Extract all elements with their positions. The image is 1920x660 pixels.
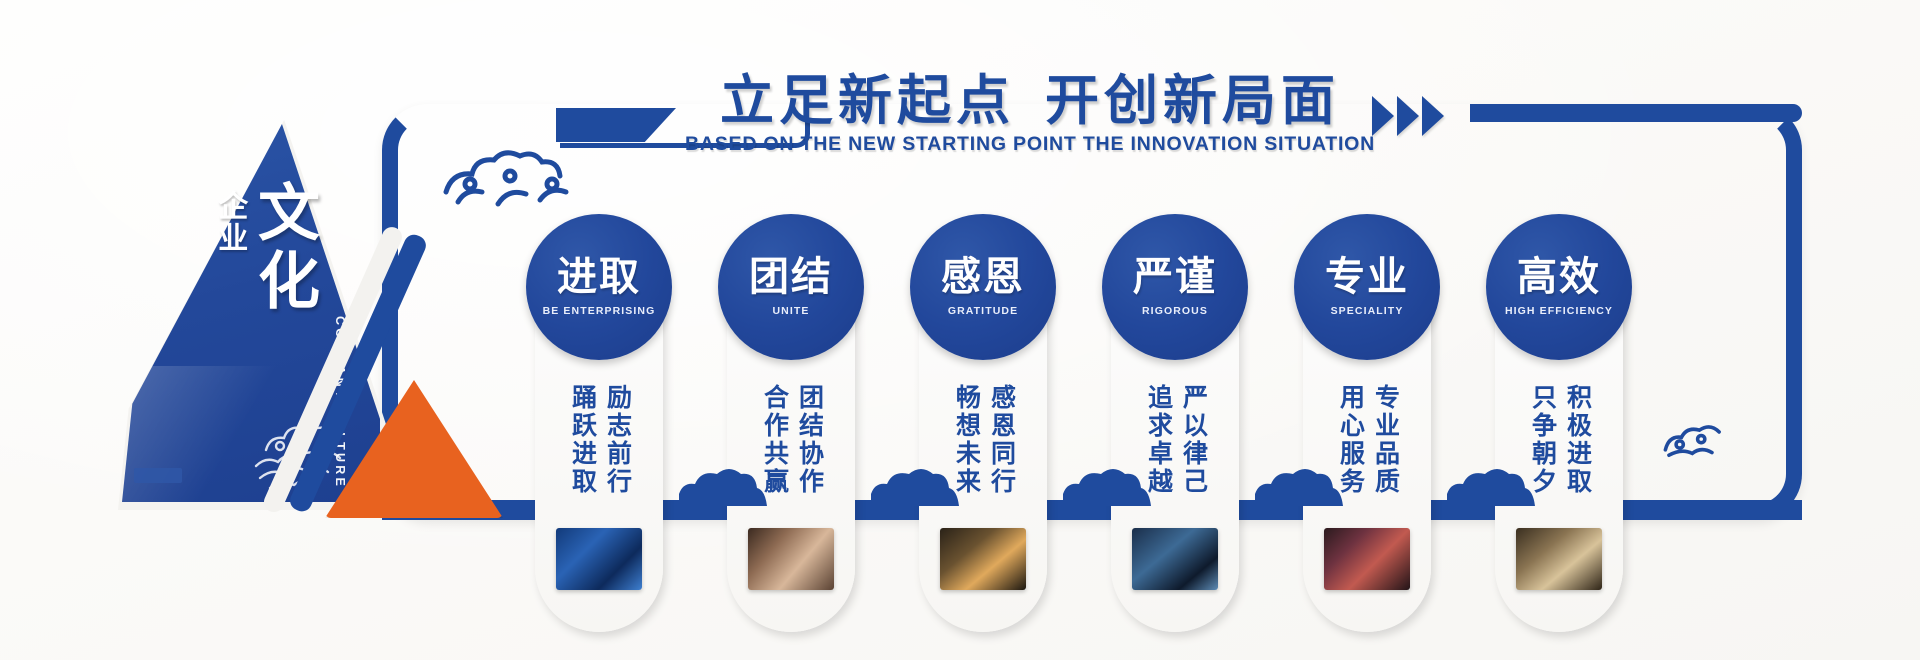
- pill-motto-left: 踊跃进取: [568, 384, 596, 496]
- cloud-motif-icon: [1660, 420, 1746, 460]
- pill-motto-right: 感恩同行: [987, 384, 1015, 496]
- cloud-motif-icon: [1251, 468, 1347, 506]
- value-pill-2[interactable]: 团结 UNITE 团结协作 合作共赢: [727, 232, 855, 632]
- pill-motto-1: 励志前行 踊跃进取: [568, 384, 631, 496]
- photo-handshake: [748, 528, 834, 590]
- value-pill-1[interactable]: 进取 BE ENTERPRISING 励志前行 踊跃进取: [535, 232, 663, 632]
- cloud-motif-icon: [867, 468, 963, 506]
- pill-circle-badge-3[interactable]: 感恩 GRATITUDE: [910, 214, 1056, 360]
- pill-circle-badge-2[interactable]: 团结 UNITE: [718, 214, 864, 360]
- pill-circle-badge-6[interactable]: 高效 HIGH EFFICIENCY: [1486, 214, 1632, 360]
- value-pill-4[interactable]: 严谨 RIGOROUS 严以律己 追求卓越: [1111, 232, 1239, 632]
- pill-title-cn: 团结: [749, 257, 833, 297]
- pill-motto-right: 励志前行: [603, 384, 631, 496]
- pill-title-cn: 严谨: [1133, 257, 1217, 297]
- pill-motto-right: 团结协作: [795, 384, 823, 496]
- pill-title-cn: 感恩: [941, 257, 1025, 297]
- pill-circle-badge-5[interactable]: 专业 SPECIALITY: [1294, 214, 1440, 360]
- value-pill-6[interactable]: 高效 HIGH EFFICIENCY 积极进取 只争朝夕: [1495, 232, 1623, 632]
- pill-title-cn: 专业: [1325, 257, 1409, 297]
- pill-title-en: RIGOROUS: [1142, 305, 1208, 317]
- cloud-motif-icon: [675, 468, 771, 506]
- pill-motto-right: 专业品质: [1371, 384, 1399, 496]
- pill-motto-right: 严以律己: [1179, 384, 1207, 496]
- pill-motto-right: 积极进取: [1563, 384, 1591, 496]
- photo-sunset-figures: [940, 528, 1026, 590]
- pill-circle-badge-1[interactable]: 进取 BE ENTERPRISING: [526, 214, 672, 360]
- value-pill-group: 进取 BE ENTERPRISING 励志前行 踊跃进取 团结 UNITE 团结…: [0, 0, 1920, 660]
- photo-eagle: [1132, 528, 1218, 590]
- pill-title-cn: 进取: [557, 257, 641, 297]
- cloud-motif-icon: [1443, 468, 1539, 506]
- photo-runner-track: [1324, 528, 1410, 590]
- pill-title-en: BE ENTERPRISING: [543, 305, 656, 317]
- value-pill-5[interactable]: 专业 SPECIALITY 专业品质 用心服务: [1303, 232, 1431, 632]
- pill-title-en: UNITE: [773, 305, 810, 317]
- photo-blue-industrial: [556, 528, 642, 590]
- pill-title-cn: 高效: [1517, 257, 1601, 297]
- pill-title-en: SPECIALITY: [1331, 305, 1404, 317]
- value-pill-3[interactable]: 感恩 GRATITUDE 感恩同行 畅想未来: [919, 232, 1047, 632]
- pill-title-en: HIGH EFFICIENCY: [1505, 305, 1613, 317]
- culture-wall-scene: 立足新起点开创新局面 BASED ON THE NEW STARTING POI…: [0, 0, 1920, 660]
- pill-title-en: GRATITUDE: [948, 305, 1018, 317]
- cloud-motif-icon: [1059, 468, 1155, 506]
- photo-pocket-watch: [1516, 528, 1602, 590]
- pill-circle-badge-4[interactable]: 严谨 RIGOROUS: [1102, 214, 1248, 360]
